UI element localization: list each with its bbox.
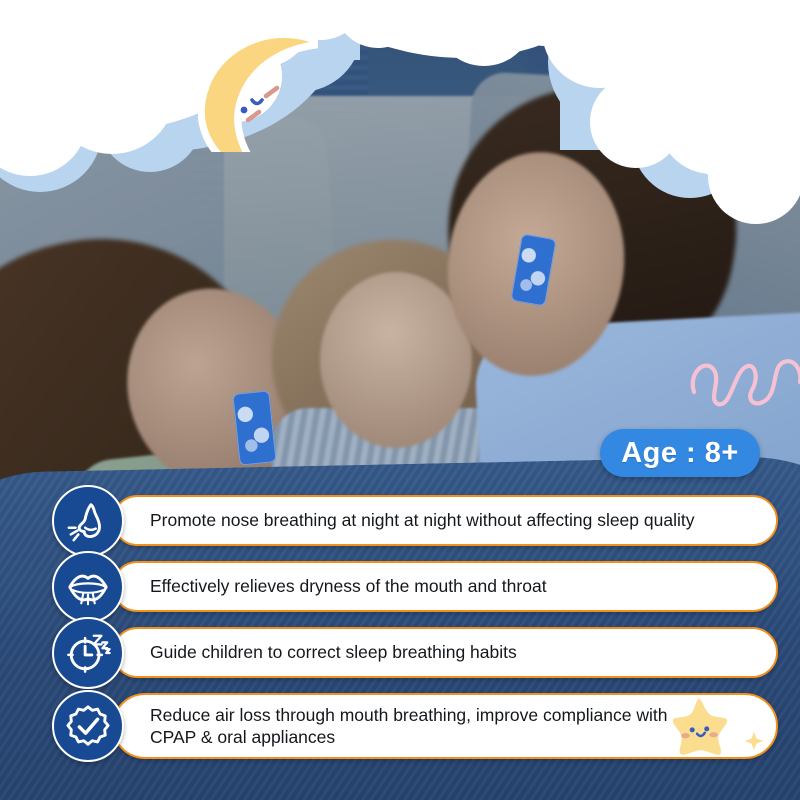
nose-breathing-icon [52, 485, 124, 557]
feature-text: Effectively relieves dryness of the mout… [150, 575, 547, 597]
feature-text: Reduce air loss through mouth breathing,… [150, 704, 706, 749]
feature-row: Effectively relieves dryness of the mout… [0, 555, 800, 618]
mouth-icon [52, 551, 124, 623]
feature-pill: Reduce air loss through mouth breathing,… [112, 693, 778, 759]
feature-row: Promote nose breathing at night at night… [0, 489, 800, 552]
mini-star-icon [744, 731, 764, 751]
product-poster: Age : 8+ Promote nose breathing at night… [0, 0, 800, 800]
verified-check-icon [52, 690, 124, 762]
age-badge-label: Age : 8+ [621, 437, 739, 470]
verified-check-glyph [65, 703, 111, 749]
child-center-head [320, 272, 472, 448]
pink-squiggle-icon [690, 352, 800, 416]
feature-pill: Guide children to correct sleep breathin… [112, 627, 778, 678]
clock-sleep-glyph [65, 630, 111, 676]
crescent-moon-icon [198, 32, 318, 152]
smiling-star-icon [668, 695, 730, 757]
age-badge: Age : 8+ [600, 429, 760, 477]
feature-text: Promote nose breathing at night at night… [150, 509, 694, 531]
mouth-tape-sticker [232, 390, 276, 465]
mouth-glyph [65, 564, 111, 610]
feature-text: Guide children to correct sleep breathin… [150, 641, 517, 663]
feature-pill: Effectively relieves dryness of the mout… [112, 561, 778, 612]
feature-pill: Promote nose breathing at night at night… [112, 495, 778, 546]
nose-breathing-glyph [65, 498, 111, 544]
feature-row: Reduce air loss through mouth breathing,… [0, 687, 800, 765]
clock-sleep-icon [52, 617, 124, 689]
feature-list: Promote nose breathing at night at night… [0, 489, 800, 768]
feature-row: Guide children to correct sleep breathin… [0, 621, 800, 684]
